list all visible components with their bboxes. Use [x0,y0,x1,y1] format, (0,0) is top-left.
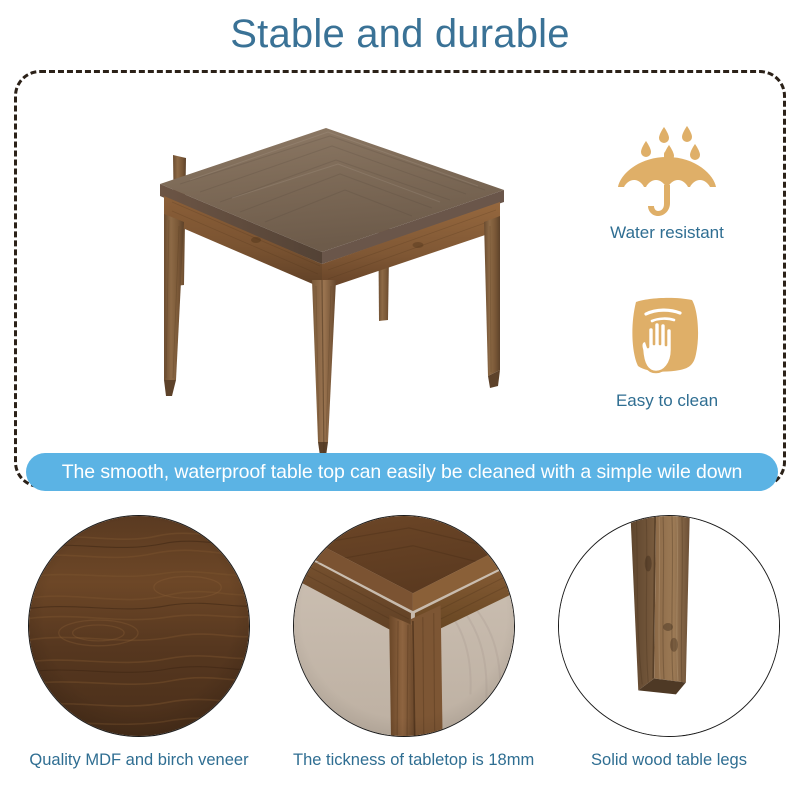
detail-image-table-corner-joint [293,515,515,737]
detail-image-tabletop-wood-grain [28,515,250,737]
detail-caption: Quality MDF and birch veneer [28,749,250,771]
detail-item: Solid wood table legs [558,515,780,771]
feature-label: Water resistant [572,222,762,244]
page-title: Stable and durable [0,8,800,60]
feature-easy-to-clean: Easy to clean [572,292,762,412]
banner-text: The smooth, waterproof table top can eas… [26,453,778,491]
detail-caption: The tickness of tabletop is 18mm [293,749,515,771]
umbrella-rain-icon [572,118,762,216]
detail-item: The tickness of tabletop is 18mm [293,515,515,771]
feature-water-resistant: Water resistant [572,118,762,244]
detail-caption: Solid wood table legs [558,749,780,771]
detail-item: Quality MDF and birch veneer [28,515,250,771]
feature-label: Easy to clean [572,390,762,412]
product-image-square-dining-table [60,80,540,460]
detail-image-solid-wood-leg [558,515,780,737]
hand-wiping-cloth-icon [572,292,762,384]
